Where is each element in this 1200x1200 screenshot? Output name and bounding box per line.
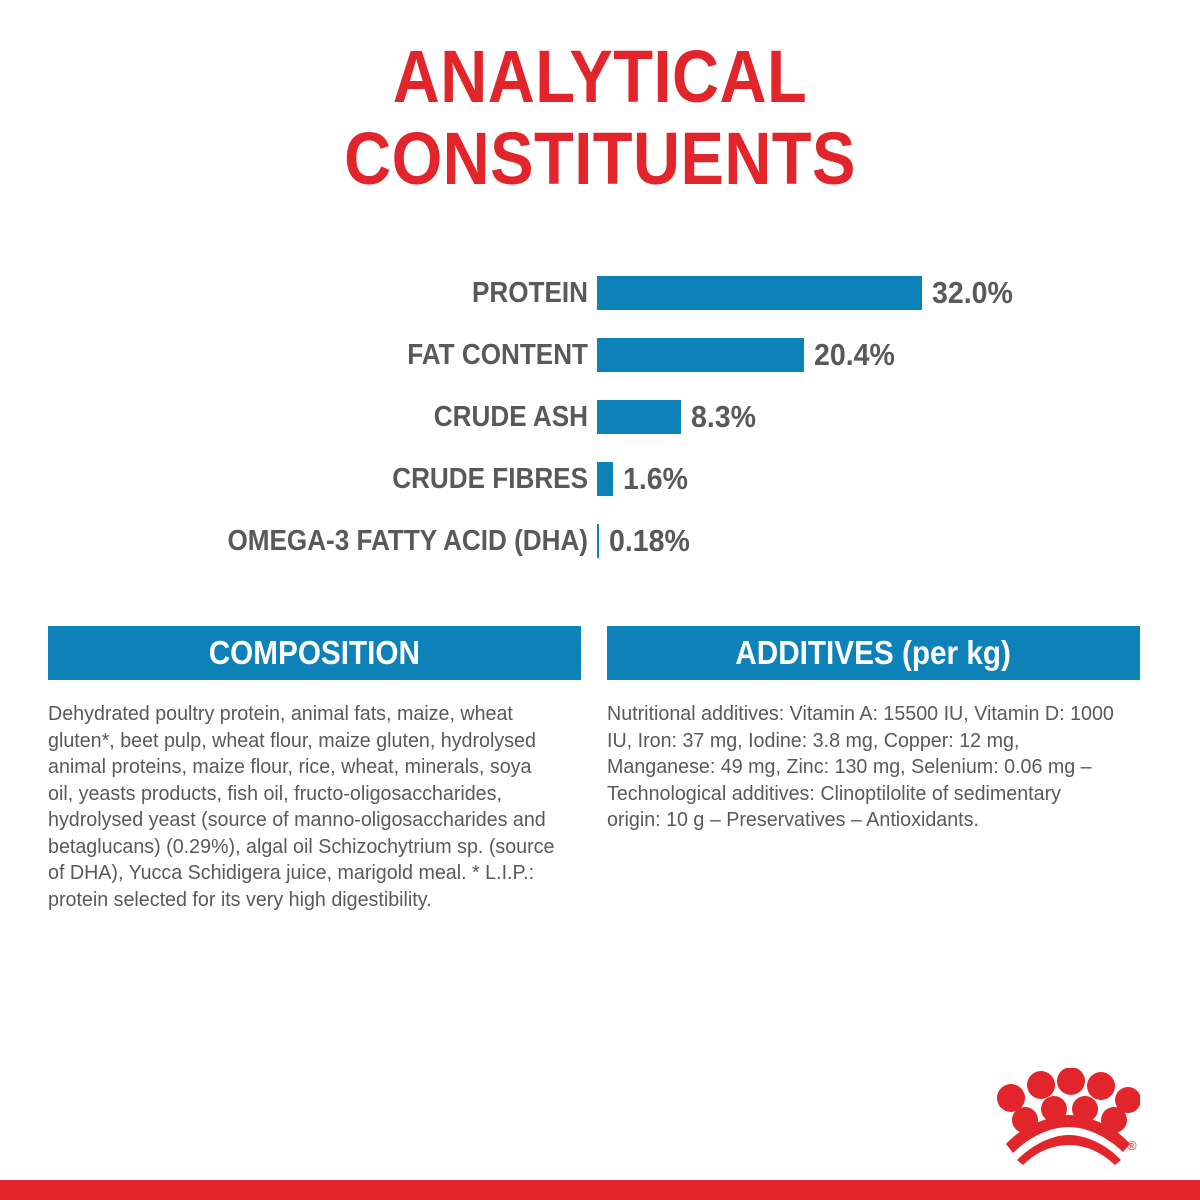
bar-row: FAT CONTENT20.4% xyxy=(0,324,1200,386)
bar-row: CRUDE ASH8.3% xyxy=(0,386,1200,448)
additives-body: Nutritional additives: Vitamin A: 15500 … xyxy=(607,701,1119,834)
bar-value: 32.0% xyxy=(932,277,1013,309)
bar-row: PROTEIN32.0% xyxy=(0,262,1200,324)
bar-value: 0.18% xyxy=(609,525,690,557)
crown-logo-icon: ® xyxy=(995,1068,1140,1168)
additives-header-label: ADDITIVES (per kg) xyxy=(736,636,1012,670)
bar-value: 20.4% xyxy=(814,339,895,371)
bar-value: 8.3% xyxy=(691,401,756,433)
bar-label-protein: PROTEIN xyxy=(120,278,588,308)
bar-fill xyxy=(597,276,922,310)
bar-track: 0.18% xyxy=(597,524,697,558)
bar-row: CRUDE FIBRES1.6% xyxy=(0,448,1200,510)
bar-fill xyxy=(597,400,681,434)
bar-fill xyxy=(597,462,613,496)
bar-label-crude-fibres: CRUDE FIBRES xyxy=(120,464,588,494)
bottom-red-band xyxy=(0,1180,1200,1200)
page-title: ANALYTICAL CONSTITUENTS xyxy=(0,36,1200,200)
bar-label-fat-content: FAT CONTENT xyxy=(120,340,588,370)
bar-label-crude-ash: CRUDE ASH xyxy=(120,402,588,432)
bar-label-omega-3-fatty-acid-dha: OMEGA-3 FATTY ACID (DHA) xyxy=(120,526,588,556)
analytical-constituents-page: ANALYTICAL CONSTITUENTS PROTEIN32.0%FAT … xyxy=(0,0,1200,1200)
additives-header: ADDITIVES (per kg) xyxy=(607,626,1140,680)
bar-fill xyxy=(597,524,599,558)
page-title-line-1: ANALYTICAL xyxy=(72,36,1128,118)
bar-row: OMEGA-3 FATTY ACID (DHA)0.18% xyxy=(0,510,1200,572)
composition-panel: COMPOSITION Dehydrated poultry protein, … xyxy=(48,626,581,913)
royal-canin-crown-logo: ® xyxy=(995,1068,1140,1168)
composition-header-label: COMPOSITION xyxy=(209,636,420,670)
info-panels: COMPOSITION Dehydrated poultry protein, … xyxy=(48,626,1152,913)
bar-value: 1.6% xyxy=(623,463,688,495)
registered-mark: ® xyxy=(1127,1138,1137,1153)
bar-track: 32.0% xyxy=(597,276,1020,310)
bar-fill xyxy=(597,338,804,372)
analytical-constituents-chart: PROTEIN32.0%FAT CONTENT20.4%CRUDE ASH8.3… xyxy=(0,262,1200,572)
composition-header: COMPOSITION xyxy=(48,626,581,680)
bar-track: 20.4% xyxy=(597,338,902,372)
page-title-line-2: CONSTITUENTS xyxy=(72,118,1128,200)
composition-body: Dehydrated poultry protein, animal fats,… xyxy=(48,701,560,913)
bar-track: 8.3% xyxy=(597,400,762,434)
bar-track: 1.6% xyxy=(597,462,694,496)
additives-panel: ADDITIVES (per kg) Nutritional additives… xyxy=(607,626,1140,913)
